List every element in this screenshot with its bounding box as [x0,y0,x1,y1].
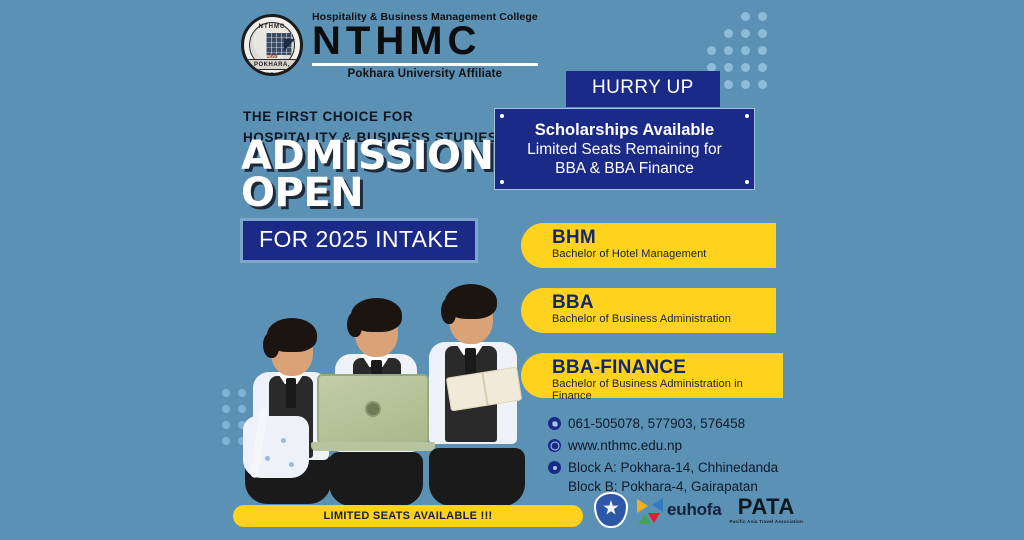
student-tie [286,378,296,408]
program-card-bhm[interactable]: BHM Bachelor of Hotel Management [521,223,776,268]
panel-corner-dot [745,114,749,118]
scholarship-detail-1: Limited Seats Remaining for [527,141,722,159]
limited-seats-pill: LIMITED SEATS AVAILABLE !!! [233,505,583,527]
scholarship-headline: Scholarships Available [535,121,714,140]
student-hair-bun [347,312,362,337]
college-seal-logo: NTHMC 1999 POKHARA, NEPAL [241,14,303,76]
student-legs [329,452,423,506]
globe-icon [548,439,561,452]
contact-block: 061-505078, 577903, 576458 www.nthmc.edu… [548,414,778,500]
partner-logos: euhofa PATA Pacific Asia Travel Associat… [594,492,803,528]
student-hair-bun [263,332,279,358]
scholarship-detail-2: BBA & BBA Finance [555,160,694,178]
student-hair-bun [441,298,456,324]
program-card-bba-finance[interactable]: BBA-FINANCE Bachelor of Business Adminis… [521,353,783,398]
brand-lockup: NTHMC 1999 POKHARA, NEPAL Hospitality & … [241,11,538,80]
intake-badge: FOR 2025 INTAKE [240,218,478,263]
pata-subtitle: Pacific Asia Travel Association [730,519,804,524]
brand-affiliate: Pokhara University Affiliate [312,68,538,80]
panel-corner-dot [500,180,504,184]
seal-sail-icon [284,39,295,51]
panel-corner-dot [745,180,749,184]
brand-text-block: Hospitality & Business Management Colleg… [312,11,538,80]
hurry-up-badge: HURRY UP [566,71,720,107]
address-line-1: Block A: Pokhara-14, Chhinedanda [568,458,778,477]
euhofa-arrows-icon [636,497,663,524]
program-code: BBA-FINANCE [552,358,783,378]
students-photo [233,276,533,506]
brand-divider [312,63,538,66]
page-title: ADMISSION OPEN [241,138,494,212]
seal-top-text: NTHMC [244,24,300,30]
program-full-name: Bachelor of Business Administration in F… [552,378,783,402]
euhofa-wordmark: euhofa [667,500,722,520]
title-line-2: OPEN [241,175,494,212]
program-full-name: Bachelor of Business Administration [552,313,776,325]
laptop-lid [317,374,429,444]
program-full-name: Bachelor of Hotel Management [552,248,776,260]
panel-corner-dot [500,114,504,118]
seal-ribbon-text: POKHARA, NEPAL [242,59,302,70]
phone-icon [548,417,561,430]
contact-row-phone[interactable]: 061-505078, 577903, 576458 [548,414,778,433]
laptop-brand-logo [365,401,381,417]
euhofa-logo: euhofa [636,497,722,524]
contact-website: www.nthmc.edu.np [568,436,682,455]
limited-seats-label: LIMITED SEATS AVAILABLE !!! [323,510,492,522]
hotel-association-logo [594,492,628,528]
pata-wordmark: PATA [730,496,804,518]
intake-badge-label: FOR 2025 INTAKE [259,226,459,252]
program-code: BHM [552,228,776,248]
kicker-line-1: THE FIRST CHOICE FOR [243,107,498,128]
student-legs [429,448,525,506]
program-code: BBA [552,293,776,313]
contact-address: Block A: Pokhara-14, Chhinedanda Block B… [568,458,778,496]
pata-logo: PATA Pacific Asia Travel Association [730,496,804,524]
scholarship-panel: Scholarships Available Limited Seats Rem… [494,108,755,190]
admission-poster: NTHMC 1999 POKHARA, NEPAL Hospitality & … [0,0,1024,540]
contact-phone: 061-505078, 577903, 576458 [568,414,745,433]
location-pin-icon [548,461,561,474]
program-card-bba[interactable]: BBA Bachelor of Business Administration [521,288,776,333]
contact-row-address[interactable]: Block A: Pokhara-14, Chhinedanda Block B… [548,458,778,496]
contact-row-website[interactable]: www.nthmc.edu.np [548,436,778,455]
laptop-base [311,442,435,451]
brand-name: NTHMC [312,20,538,62]
hurry-up-label: HURRY UP [592,77,694,98]
